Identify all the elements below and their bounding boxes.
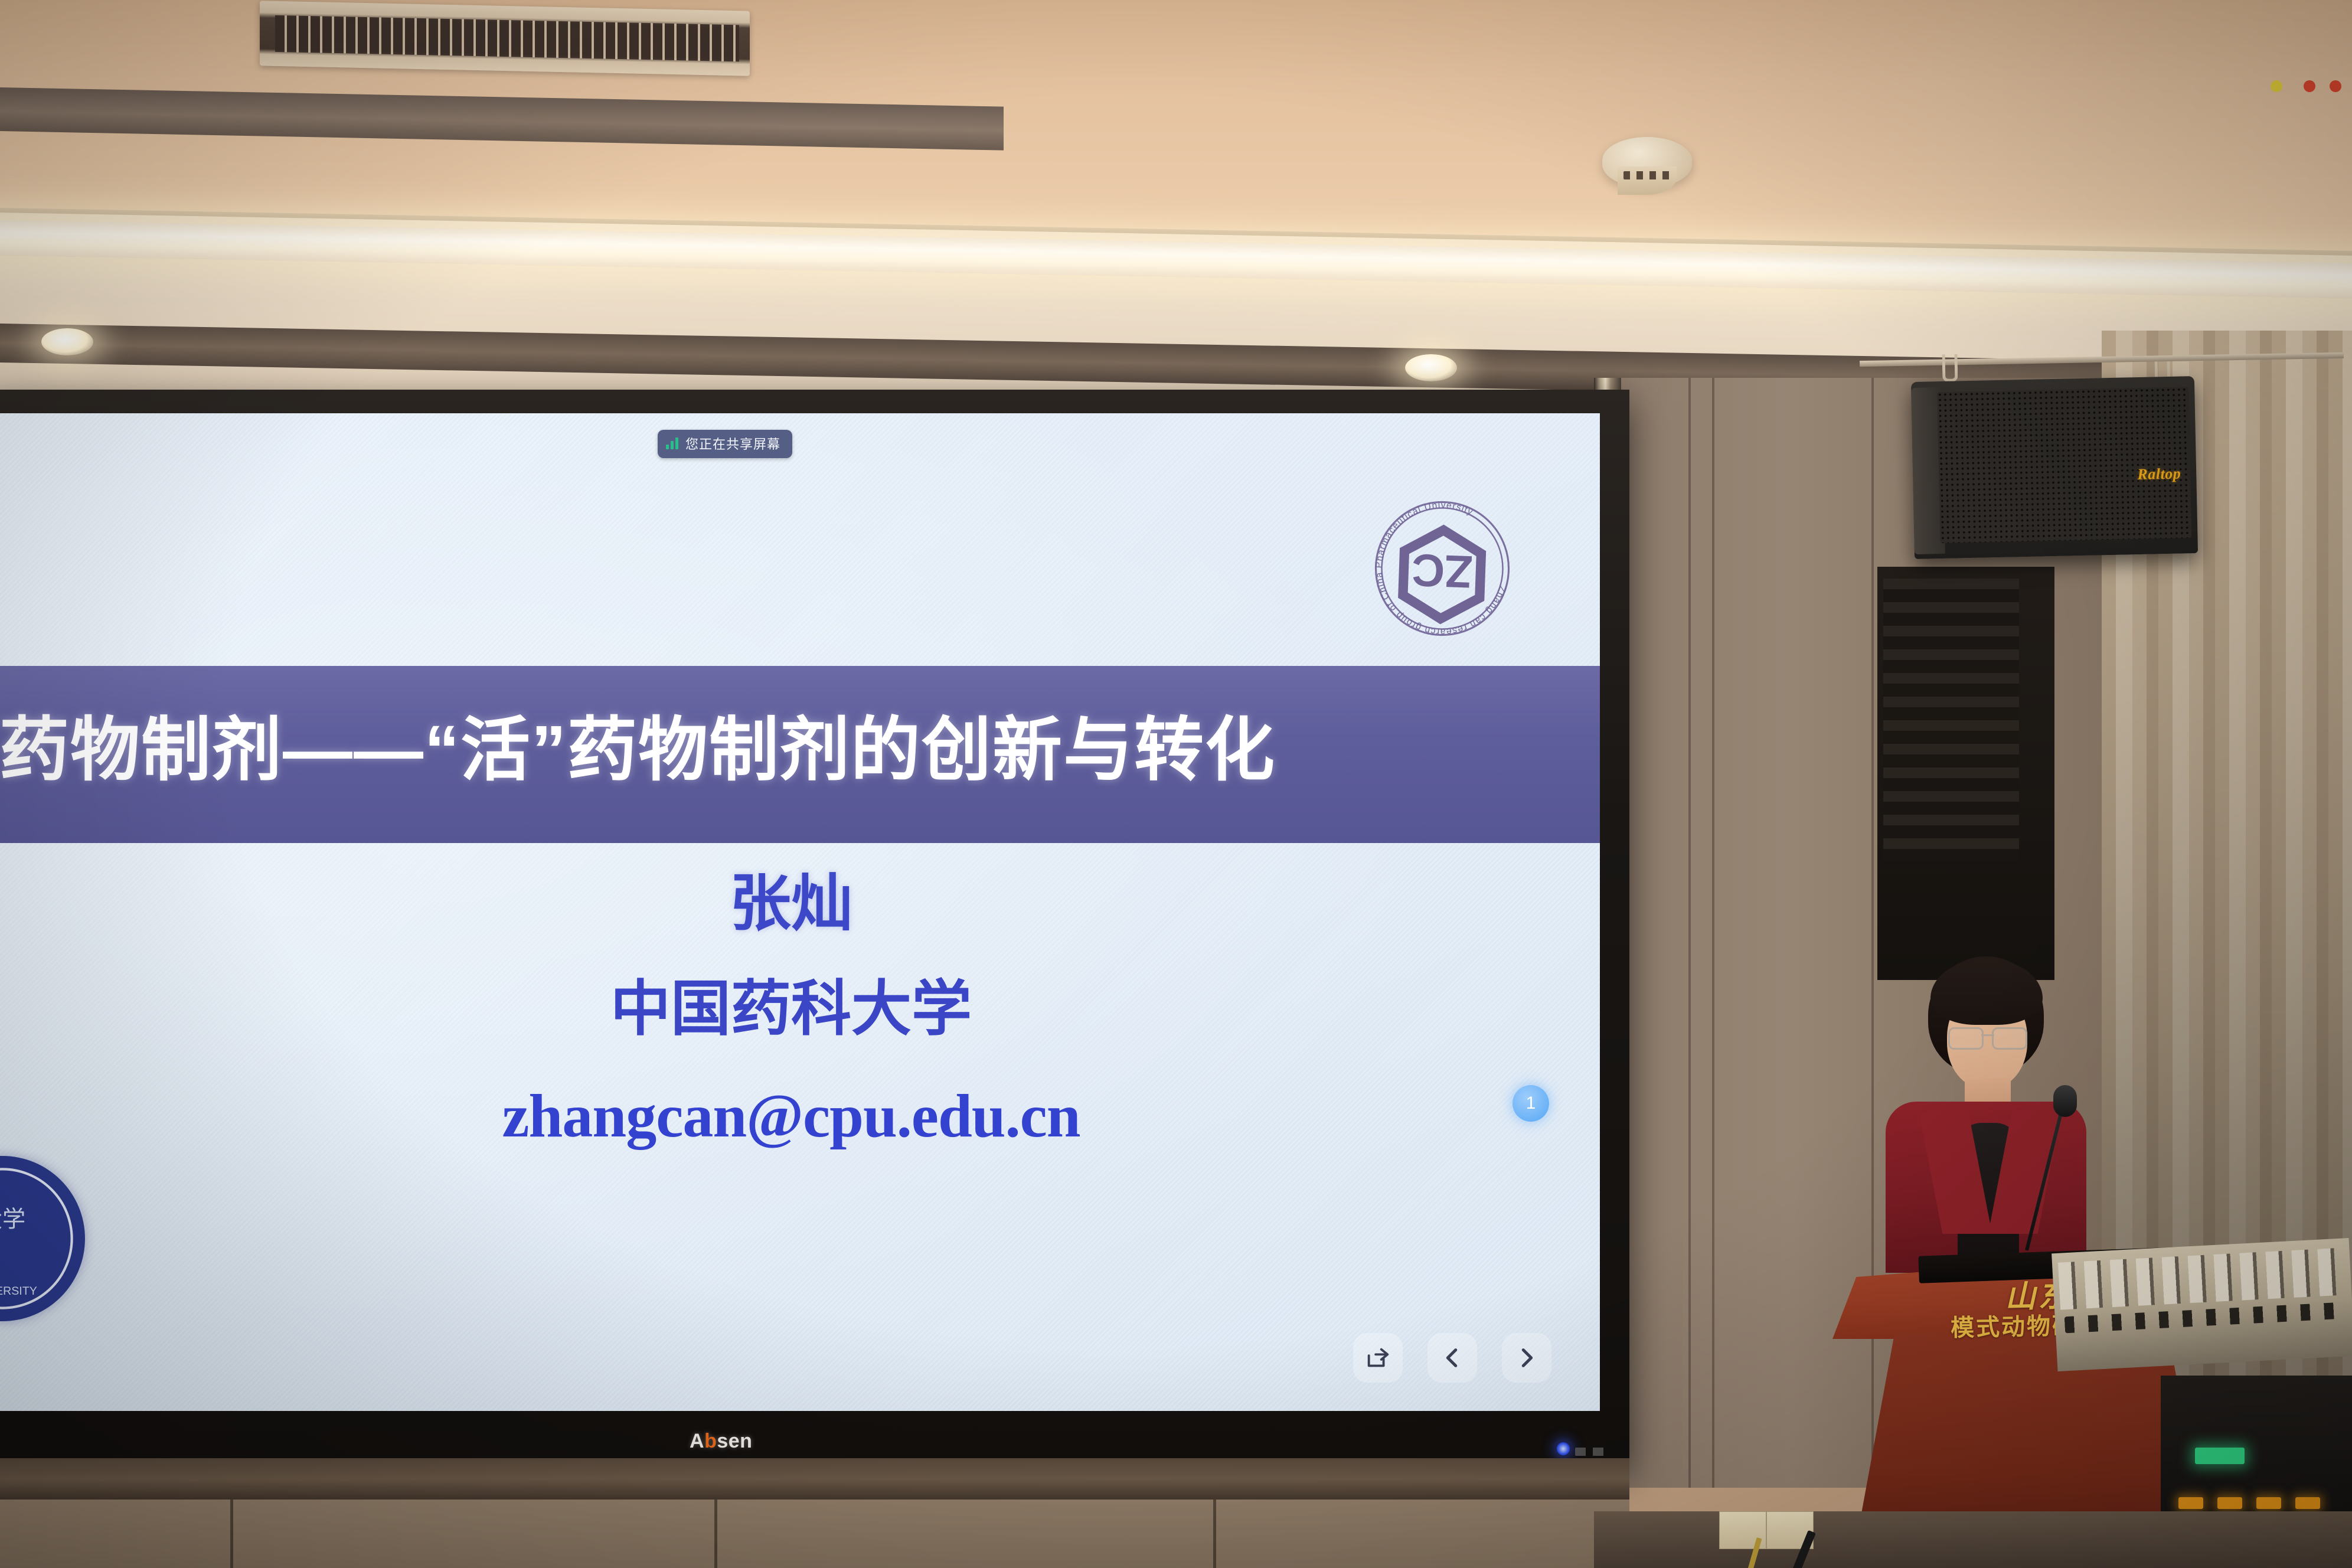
presenter-email: zhangcan@cpu.edu.cn — [0, 1081, 1600, 1151]
slide-number-badge[interactable]: 1 — [1513, 1085, 1549, 1122]
previous-slide-button[interactable] — [1427, 1333, 1477, 1383]
next-slide-button[interactable] — [1502, 1333, 1551, 1383]
ceiling-speaker: Raltop — [1911, 376, 2198, 559]
speaker-brand-logo: Raltop — [2137, 465, 2181, 484]
svg-text:大学: 大学 — [0, 1207, 25, 1232]
signal-bars-icon — [666, 437, 678, 449]
wall-recess-slats — [1883, 579, 2019, 862]
slide-title: 新兴药物制剂——“活”药物制剂的创新与转化 — [0, 716, 1381, 785]
power-led-indicator — [1557, 1442, 1570, 1455]
university-seal-icon: 大学 UNIVERSITY — [0, 1156, 85, 1321]
rack-status-led — [2295, 1497, 2320, 1509]
mixer-indicator — [2330, 80, 2341, 92]
conference-hall-photo: Raltop 您正在共享屏幕 Zhang can resea — [0, 0, 2352, 1568]
research-group-logo-svg: Zhang can research group of China Pharma… — [1366, 492, 1519, 645]
slide-body: 张灿 中国药科大学 zhangcan@cpu.edu.cn — [0, 868, 1600, 1151]
rack-status-led — [2217, 1497, 2242, 1509]
presenter-affiliation: 中国药科大学 — [0, 974, 1600, 1044]
rack-status-led — [2256, 1497, 2281, 1509]
display-lower-bezel — [0, 1458, 1629, 1505]
screen-sharing-label: 您正在共享屏幕 — [685, 434, 780, 453]
share-icon — [1364, 1344, 1391, 1371]
rack-status-led-power — [2195, 1448, 2245, 1464]
mixer-faders[interactable] — [2058, 1248, 2338, 1309]
screen-sharing-banner: 您正在共享屏幕 — [658, 430, 792, 458]
vent-slats — [275, 15, 739, 61]
microphone-icon — [2053, 1085, 2077, 1117]
rigging-hook — [1942, 354, 1958, 382]
chevron-right-icon — [1513, 1344, 1540, 1371]
floor — [1594, 1511, 2352, 1568]
presenter-hair-fringe — [1930, 959, 2043, 1025]
presenter-glasses-icon — [1948, 1027, 2027, 1047]
mixer-indicator — [2304, 80, 2315, 92]
downlight-icon — [41, 328, 93, 355]
chevron-left-icon — [1439, 1344, 1466, 1371]
display-brand-label: Absen — [690, 1430, 752, 1453]
slide-title-band: 新兴药物制剂——“活”药物制剂的创新与转化 — [0, 666, 1600, 843]
share-button[interactable] — [1353, 1333, 1403, 1383]
led-display-screen[interactable]: 您正在共享屏幕 Zhang can research group of Chin… — [0, 413, 1600, 1411]
research-group-logo: Zhang can research group of China Pharma… — [1366, 492, 1519, 645]
svg-text:ZC: ZC — [1411, 544, 1474, 597]
wall-wainscot — [0, 1500, 1629, 1568]
smoke-detector-icon — [1594, 135, 1700, 205]
slide-nav-bar — [1353, 1333, 1551, 1383]
rack-status-led — [2178, 1497, 2203, 1509]
audio-mixer[interactable] — [2052, 1238, 2352, 1371]
air-vent-icon — [260, 1, 750, 76]
presentation-slide: 您正在共享屏幕 Zhang can research group of Chin… — [0, 413, 1600, 1411]
svg-text:UNIVERSITY: UNIVERSITY — [0, 1285, 37, 1298]
downlight-icon — [1405, 354, 1457, 381]
mixer-indicator — [2271, 80, 2282, 92]
presenter-name: 张灿 — [0, 868, 1600, 940]
usb-ports-icon — [1575, 1448, 1611, 1456]
